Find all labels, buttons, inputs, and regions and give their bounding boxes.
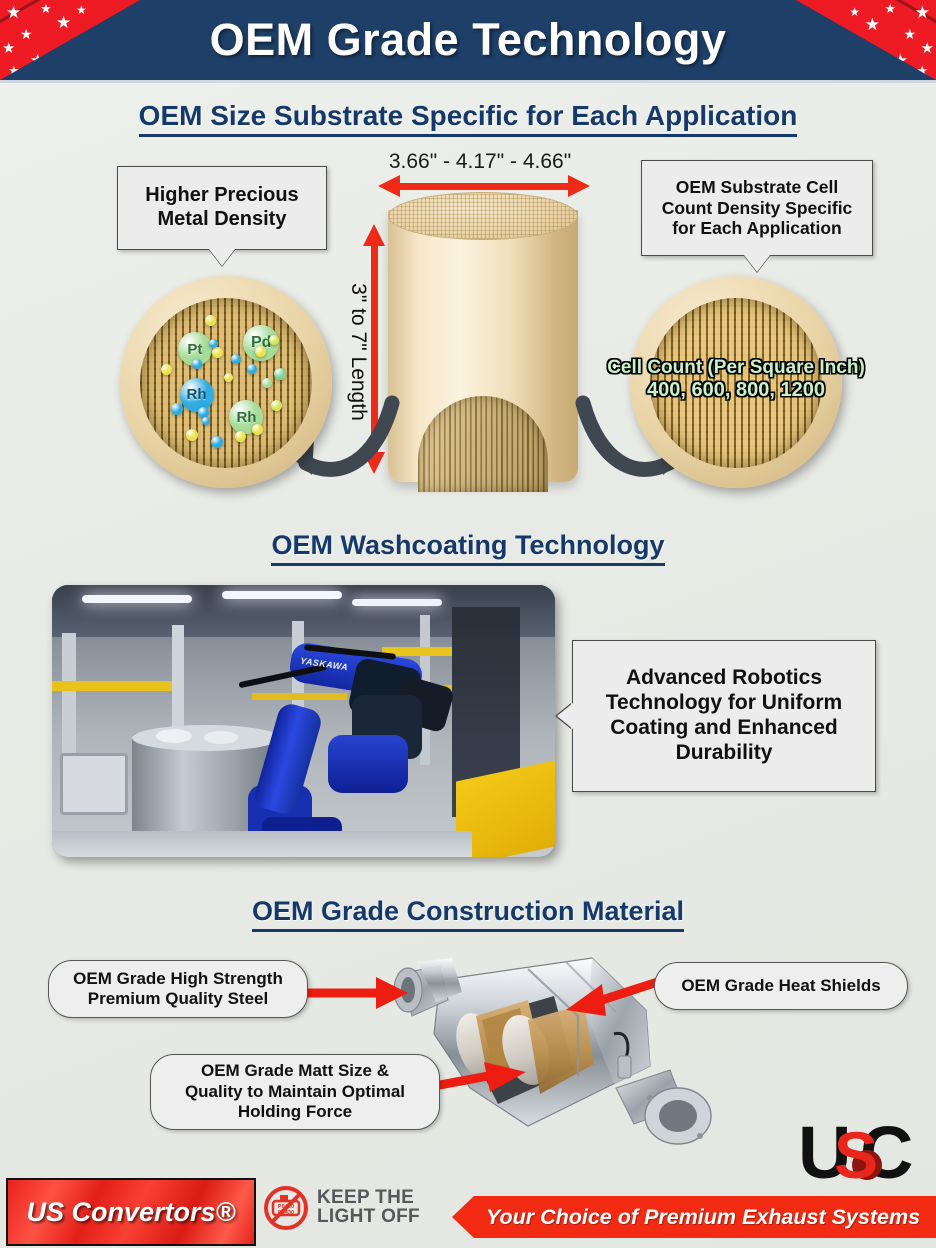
precious-metal-mesh: PtPdRhRh: [140, 298, 312, 468]
metal-particle: [186, 429, 198, 441]
usc-logo-s: S: [834, 1122, 878, 1188]
metal-particle: [161, 364, 172, 375]
callout-matt-size: OEM Grade Matt Size & Quality to Maintai…: [150, 1054, 440, 1130]
metal-particle: [202, 417, 210, 425]
metal-particle: [252, 424, 263, 435]
page-header: ★ ★ ★ ★ ★ ★ ★ ★ ★ ★ ★ ★ ★ ★ ★ ★ OEM Grad…: [0, 0, 936, 80]
callout-advanced-robotics-text: Advanced Robotics Technology for Uniform…: [606, 666, 842, 765]
metal-particle: [205, 315, 216, 326]
no-check-engine-icon: P0420 P0430: [262, 1184, 310, 1232]
width-dimension-label: 3.66" - 4.17" - 4.66": [330, 150, 630, 174]
callout-heat-shields-text: OEM Grade Heat Shields: [681, 976, 880, 996]
section-heading-substrate-text: OEM Size Substrate Specific for Each App…: [139, 100, 798, 137]
callout-substrate-cell-count: OEM Substrate Cell Count Density Specifi…: [641, 160, 873, 256]
tagline-banner: Your Choice of Premium Exhaust Systems: [452, 1196, 936, 1238]
cell-count-values: 400, 600, 800, 1200: [566, 379, 906, 401]
callout-premium-steel: OEM Grade High Strength Premium Quality …: [48, 960, 308, 1018]
section-heading-construction-text: OEM Grade Construction Material: [252, 896, 684, 932]
cylinder-top-face: [388, 192, 578, 240]
keep-the-light-off-badge: P0420 P0430 KEEP THE LIGHT OFF: [262, 1184, 420, 1232]
washcoating-photo: YASKAWA: [52, 585, 555, 857]
metal-particle-rh: Rh: [180, 378, 214, 412]
callout-premium-steel-text: OEM Grade High Strength Premium Quality …: [73, 969, 283, 1010]
metal-particle: [247, 364, 257, 374]
cell-count-title: Cell Count (Per Square Inch): [566, 357, 906, 378]
section-heading-construction: OEM Grade Construction Material: [0, 896, 936, 932]
section-heading-substrate: OEM Size Substrate Specific for Each App…: [0, 100, 936, 137]
metal-particle: [271, 400, 282, 411]
metal-particle: [255, 346, 266, 357]
metal-particle: [231, 354, 241, 364]
callout-higher-precious-metal-density-text: Higher Precious Metal Density: [145, 184, 298, 231]
callout-matt-size-text: OEM Grade Matt Size & Quality to Maintai…: [185, 1061, 405, 1122]
substrate-cylinder: [388, 192, 578, 492]
metal-particle: [224, 373, 233, 382]
callout-higher-precious-metal-density: Higher Precious Metal Density: [117, 166, 327, 250]
metal-particle: [262, 378, 272, 388]
metal-particle: [212, 347, 223, 358]
metal-particle: [192, 359, 202, 369]
callout-heat-shields: OEM Grade Heat Shields: [654, 962, 908, 1010]
metal-particle: [209, 339, 218, 348]
precious-metal-circle: PtPdRhRh: [120, 276, 332, 488]
infographic-page: ★ ★ ★ ★ ★ ★ ★ ★ ★ ★ ★ ★ ★ ★ ★ ★ OEM Grad…: [0, 0, 936, 1248]
arrow-to-steel: [290, 975, 410, 1011]
metal-particle: [274, 368, 286, 380]
callout-substrate-cell-count-text: OEM Substrate Cell Count Density Specifi…: [662, 177, 853, 239]
keep-the-light-off-line2: LIGHT OFF: [317, 1208, 420, 1227]
usc-logo: U S C: [798, 1120, 924, 1186]
metal-particle: [211, 436, 223, 448]
precious-metal-particles: PtPdRhRh: [140, 298, 312, 468]
cylinder-cutaway-honeycomb: [418, 396, 548, 492]
metal-particle: [171, 403, 183, 415]
callout-advanced-robotics: Advanced Robotics Technology for Uniform…: [572, 640, 876, 792]
header-divider: [0, 80, 936, 83]
us-convertors-logo: US Convertors®: [6, 1178, 256, 1246]
metal-particle: [235, 431, 246, 442]
page-title: OEM Grade Technology: [0, 0, 936, 80]
section-heading-washcoating-text: OEM Washcoating Technology: [271, 530, 664, 566]
section-heading-washcoating: OEM Washcoating Technology: [0, 530, 936, 566]
tagline-text: Your Choice of Premium Exhaust Systems: [468, 1205, 920, 1230]
us-convertors-logo-text: US Convertors®: [27, 1197, 236, 1228]
